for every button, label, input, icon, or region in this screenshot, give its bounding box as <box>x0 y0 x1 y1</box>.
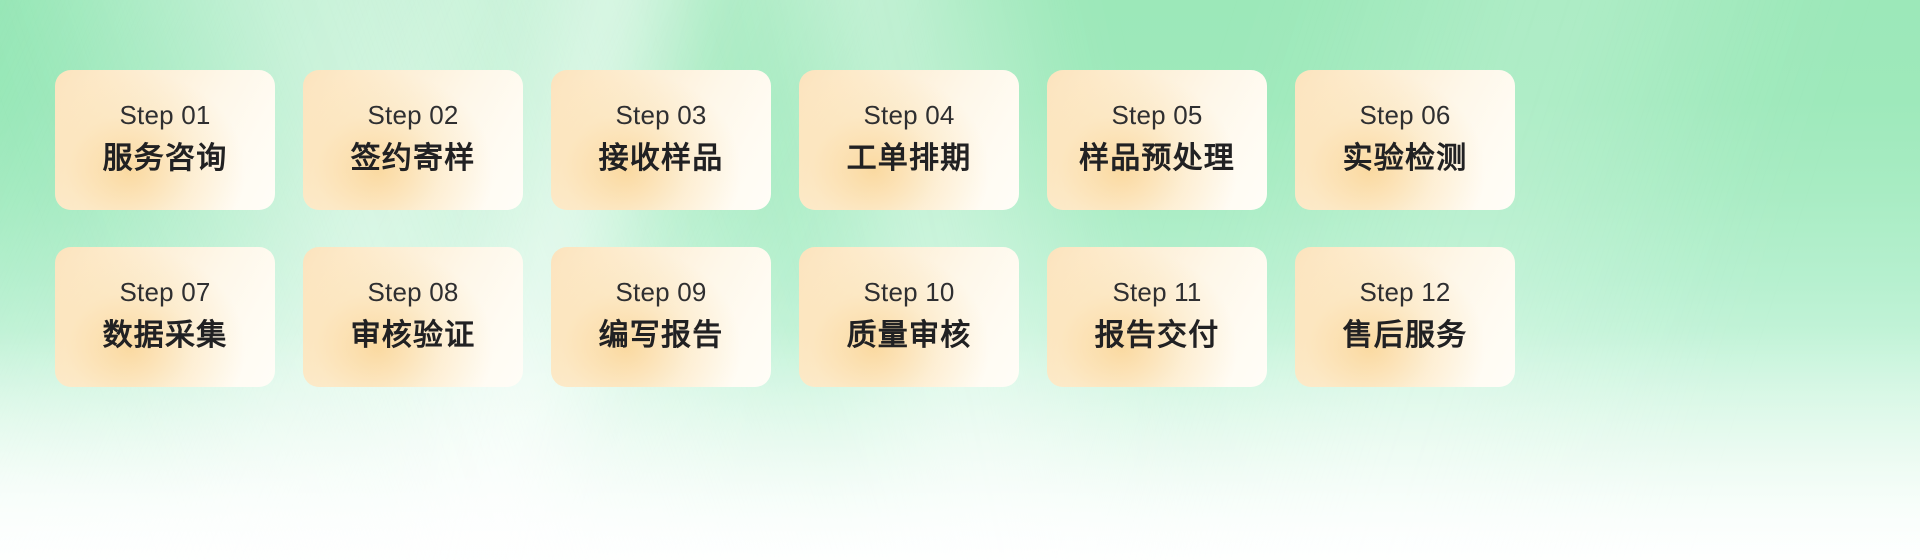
step-card-content: Step 10质量审核 <box>847 279 972 351</box>
step-title-label: 质量审核 <box>847 321 972 351</box>
step-card[interactable]: Step 10质量审核 <box>799 247 1019 387</box>
step-number-label: Step 03 <box>599 102 724 128</box>
step-number-label: Step 05 <box>1079 102 1235 128</box>
step-number-label: Step 12 <box>1343 279 1468 305</box>
step-card[interactable]: Step 03接收样品 <box>551 70 771 210</box>
step-title-label: 样品预处理 <box>1079 144 1235 174</box>
step-card-content: Step 02签约寄样 <box>351 102 476 174</box>
step-card-content: Step 12售后服务 <box>1343 279 1468 351</box>
step-card[interactable]: Step 08审核验证 <box>303 247 523 387</box>
step-number-label: Step 06 <box>1343 102 1468 128</box>
step-card-content: Step 04工单排期 <box>847 102 972 174</box>
step-title-label: 售后服务 <box>1343 321 1468 351</box>
step-card[interactable]: Step 11报告交付 <box>1047 247 1267 387</box>
step-number-label: Step 07 <box>103 279 228 305</box>
step-card-content: Step 11报告交付 <box>1095 279 1220 351</box>
step-card[interactable]: Step 02签约寄样 <box>303 70 523 210</box>
step-card[interactable]: Step 05样品预处理 <box>1047 70 1267 210</box>
step-number-label: Step 02 <box>351 102 476 128</box>
step-card[interactable]: Step 06实验检测 <box>1295 70 1515 210</box>
step-card-content: Step 01服务咨询 <box>103 102 228 174</box>
step-card-content: Step 07数据采集 <box>103 279 228 351</box>
step-card[interactable]: Step 01服务咨询 <box>55 70 275 210</box>
step-card-content: Step 03接收样品 <box>599 102 724 174</box>
step-card-content: Step 08审核验证 <box>351 279 476 351</box>
step-title-label: 报告交付 <box>1095 321 1220 351</box>
step-card-content: Step 05样品预处理 <box>1079 102 1235 174</box>
step-title-label: 数据采集 <box>103 321 228 351</box>
step-card-content: Step 06实验检测 <box>1343 102 1468 174</box>
step-number-label: Step 09 <box>599 279 724 305</box>
step-number-label: Step 08 <box>351 279 476 305</box>
step-number-label: Step 10 <box>847 279 972 305</box>
step-card-grid: Step 01服务咨询Step 02签约寄样Step 03接收样品Step 04… <box>55 70 1865 387</box>
step-title-label: 签约寄样 <box>351 144 476 174</box>
step-card[interactable]: Step 12售后服务 <box>1295 247 1515 387</box>
step-card[interactable]: Step 07数据采集 <box>55 247 275 387</box>
step-title-label: 工单排期 <box>847 144 972 174</box>
step-card[interactable]: Step 09编写报告 <box>551 247 771 387</box>
step-number-label: Step 11 <box>1095 279 1220 305</box>
process-steps-banner: Step 01服务咨询Step 02签约寄样Step 03接收样品Step 04… <box>0 0 1920 560</box>
step-title-label: 编写报告 <box>599 321 724 351</box>
step-card[interactable]: Step 04工单排期 <box>799 70 1019 210</box>
step-number-label: Step 01 <box>103 102 228 128</box>
step-title-label: 接收样品 <box>599 144 724 174</box>
step-title-label: 实验检测 <box>1343 144 1468 174</box>
step-title-label: 审核验证 <box>351 321 476 351</box>
step-number-label: Step 04 <box>847 102 972 128</box>
step-title-label: 服务咨询 <box>103 144 228 174</box>
step-card-content: Step 09编写报告 <box>599 279 724 351</box>
